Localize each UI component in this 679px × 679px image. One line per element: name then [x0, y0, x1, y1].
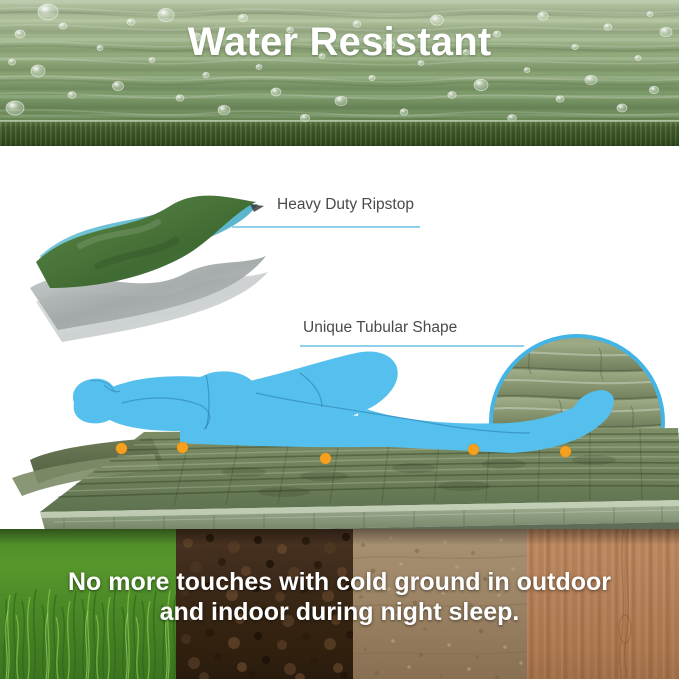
hero-title: Water Resistant [0, 20, 679, 65]
caption-line-1: No more touches with cold ground in outd… [68, 568, 611, 596]
tubular-label: Unique Tubular Shape [303, 319, 457, 337]
hero-banner: Water Resistant [0, 0, 679, 146]
pressure-dot-calf [468, 444, 479, 455]
bottom-caption: No more touches with cold ground in outd… [0, 567, 679, 627]
ripstop-label: Heavy Duty Ripstop [277, 196, 414, 214]
fabric-layers-icon [18, 184, 288, 354]
person-lying-silhouette-icon [60, 351, 620, 481]
pad-rail-ribs [0, 122, 679, 146]
pressure-dot-head [116, 443, 127, 454]
pressure-dot-shoulder [177, 442, 188, 453]
ripstop-leader-line [232, 226, 420, 228]
pressure-dot-heel [560, 446, 571, 457]
caption-line-2: and indoor during night sleep. [0, 597, 679, 627]
product-infographic: Water Resistant [0, 0, 679, 679]
tubular-leader-line [300, 345, 524, 347]
pad-ground-shadow [0, 529, 679, 545]
pressure-dot-hip [320, 453, 331, 464]
features-section: Heavy Duty Ripstop Unique Tubular Shape [0, 146, 679, 529]
